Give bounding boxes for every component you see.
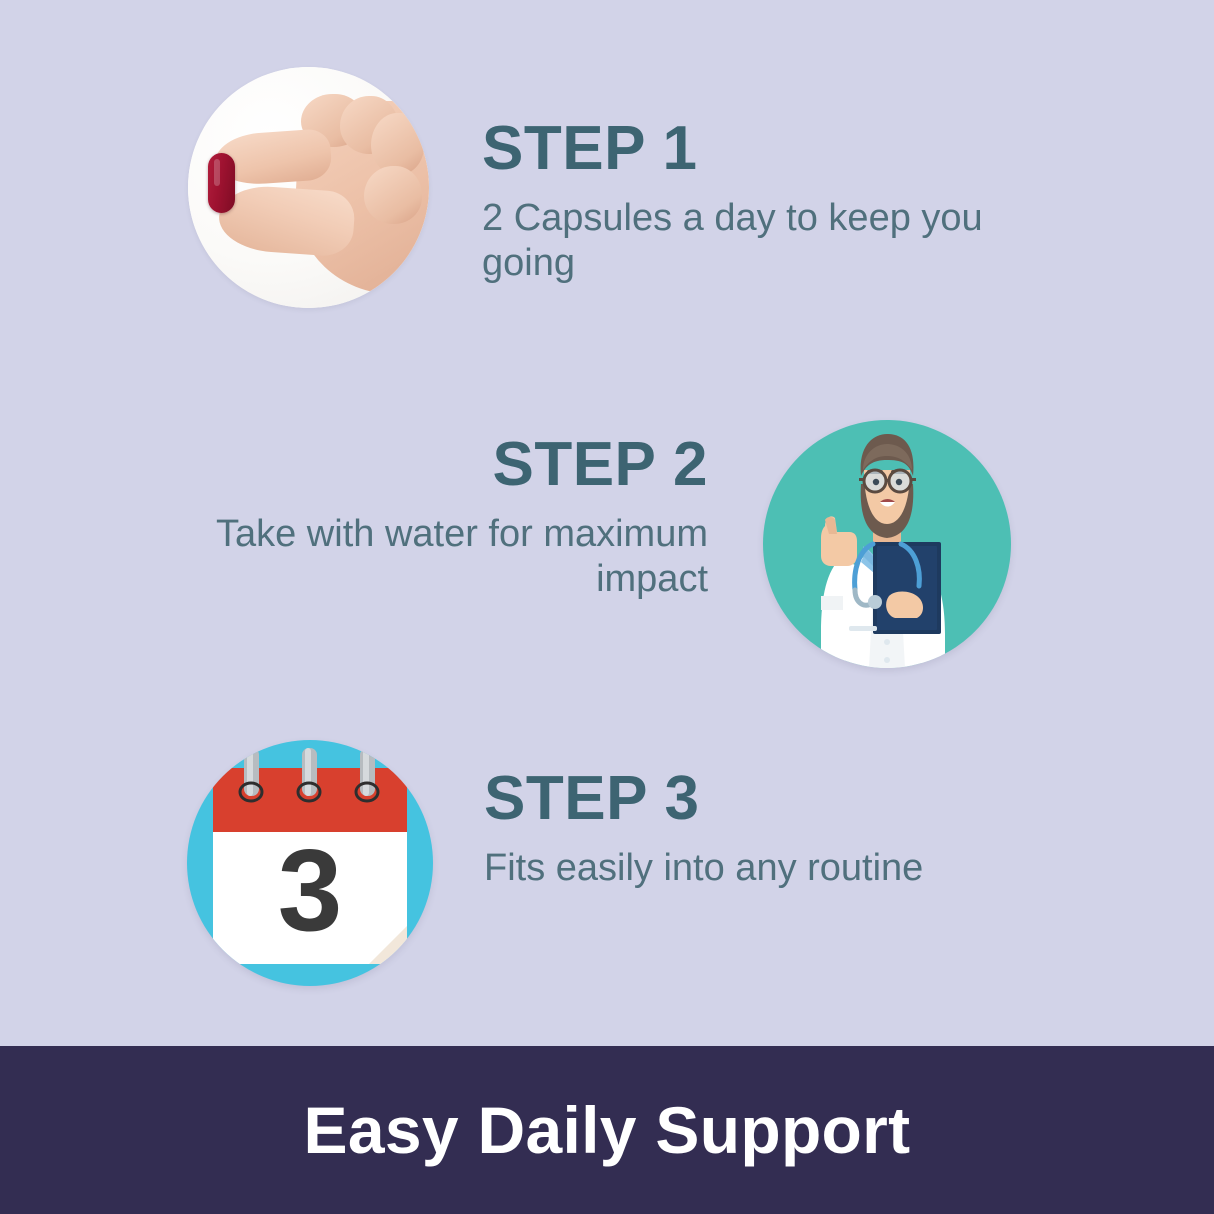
hand-illustration [188,67,429,308]
step-1-description: 2 Capsules a day to keep you going [482,196,1042,286]
step-2-description: Take with water for maximum impact [152,512,708,602]
calendar-illustration-svg: 3 [187,740,433,986]
index-finger-shape [217,183,356,257]
step-3-text-block: STEP 3 Fits easily into any routine [484,766,1044,891]
step-1-media [188,67,429,308]
doctor-thumbs-up-icon [763,420,1011,668]
hand-holding-capsule-photo [188,67,429,308]
step-2-title: STEP 2 [152,432,708,498]
step-1-text-block: STEP 1 2 Capsules a day to keep you goin… [482,116,1042,285]
step-2-text-block: STEP 2 Take with water for maximum impac… [152,432,708,601]
footer-title: Easy Daily Support [304,1097,911,1163]
calendar-day-number: 3 [278,825,343,955]
infographic-canvas: STEP 1 2 Capsules a day to keep you goin… [0,0,1214,1214]
step-3-description: Fits easily into any routine [484,846,1044,891]
step-3-media: 3 [187,740,433,986]
step-1-title: STEP 1 [482,116,1042,182]
capsule-pill-icon [208,153,235,213]
doctor-illustration-svg [763,420,1011,668]
step-3-title: STEP 3 [484,766,1044,832]
step-2-media [763,420,1011,668]
calendar-day-3-icon: 3 [187,740,433,986]
knuckle-shape [364,166,422,224]
footer-banner: Easy Daily Support [0,1046,1214,1214]
